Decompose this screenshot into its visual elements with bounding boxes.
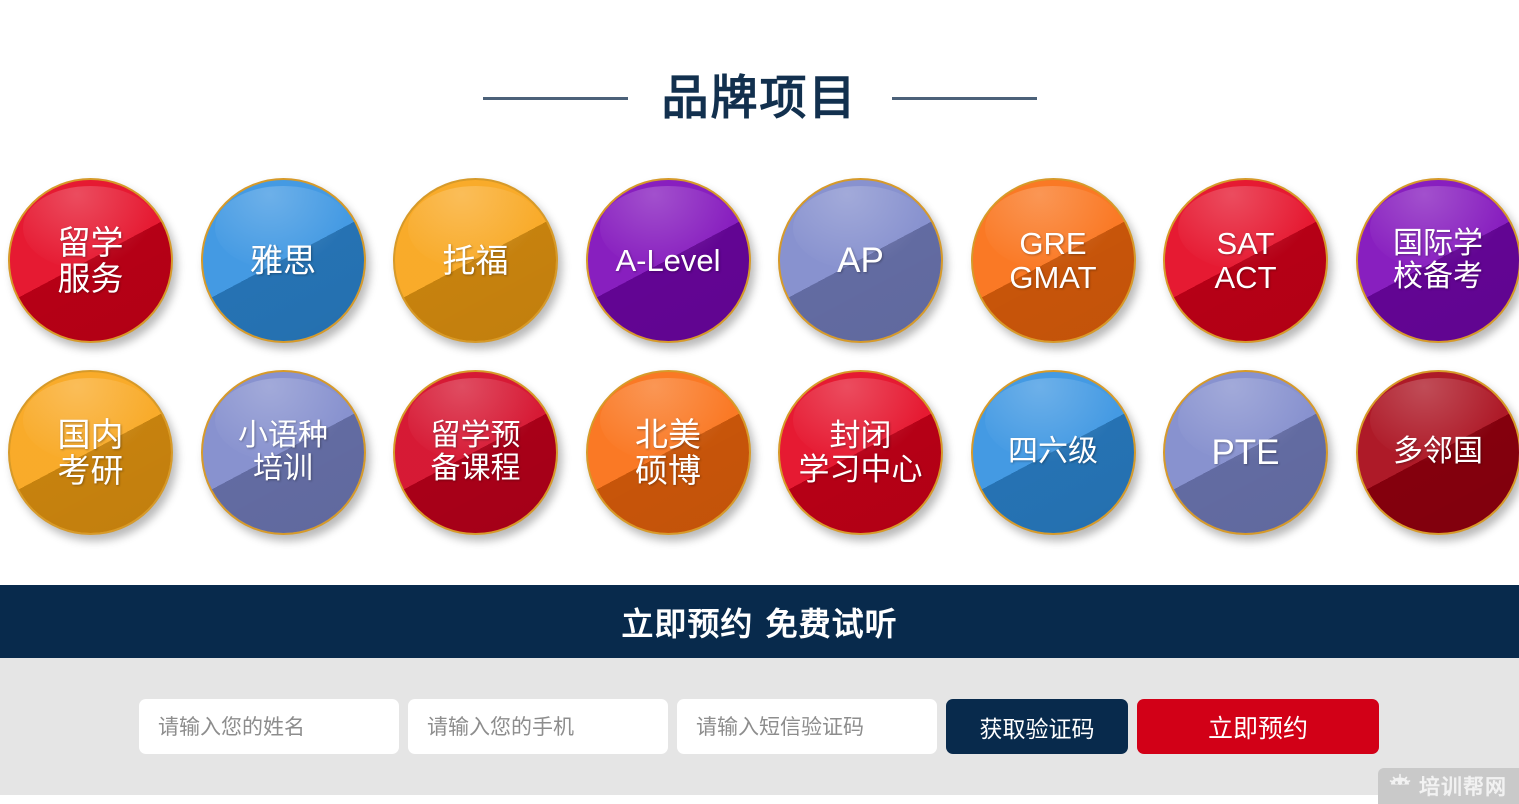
heading-rule-left xyxy=(483,97,628,100)
name-input[interactable] xyxy=(139,699,399,754)
section-heading: 品牌项目 xyxy=(0,58,1519,138)
program-bubble-duolingo[interactable]: 多邻国 xyxy=(1356,370,1519,535)
cta-banner: 立即预约 免费试听 xyxy=(0,585,1519,658)
cta-banner-text: 立即预约 免费试听 xyxy=(621,599,897,645)
program-bubble-label: 封闭 学习中心 xyxy=(780,419,941,486)
program-bubble-study-abroad-prep-course[interactable]: 留学预 备课程 xyxy=(393,370,558,535)
program-bubble-label: 雅思 xyxy=(248,243,318,279)
site-watermark: 培训帮网 xyxy=(1378,768,1519,804)
program-row-2: 国内 考研小语种 培训留学预 备课程北美 硕博封闭 学习中心四六级PTE多邻国 xyxy=(8,370,1516,535)
booking-form-fields: 获取验证码 立即预约 xyxy=(139,699,1379,754)
program-bubble-label: 托福 xyxy=(441,243,511,279)
sms-code-input[interactable] xyxy=(677,699,937,754)
program-bubble-gre-gmat[interactable]: GRE GMAT xyxy=(971,178,1136,343)
program-bubble-label: 国内 考研 xyxy=(56,417,126,488)
program-bubble-label: SAT ACT xyxy=(1213,227,1279,294)
program-bubble-cet-4-6[interactable]: 四六级 xyxy=(971,370,1136,535)
booking-form: 获取验证码 立即预约 xyxy=(0,658,1519,795)
program-bubble-label: A-Level xyxy=(613,244,722,277)
program-bubble-label: PTE xyxy=(1209,434,1281,472)
program-bubble-label: 北美 硕博 xyxy=(633,417,703,488)
program-bubble-toefl[interactable]: 托福 xyxy=(393,178,558,343)
program-bubble-ielts[interactable]: 雅思 xyxy=(201,178,366,343)
program-bubble-pte[interactable]: PTE xyxy=(1163,370,1328,535)
book-now-button[interactable]: 立即预约 xyxy=(1137,699,1379,754)
program-bubble-label: 留学预 备课程 xyxy=(429,420,523,485)
program-bubble-sat-act[interactable]: SAT ACT xyxy=(1163,178,1328,343)
program-bubble-domestic-postgrad-exam[interactable]: 国内 考研 xyxy=(8,370,173,535)
program-row-1: 留学 服务雅思托福A-LevelAPGRE GMATSAT ACT国际学 校备考 xyxy=(8,178,1516,343)
program-bubble-label: 国际学 校备考 xyxy=(1391,228,1485,293)
program-bubble-label: 四六级 xyxy=(1006,436,1100,468)
phone-input[interactable] xyxy=(408,699,668,754)
program-bubble-closed-study-center[interactable]: 封闭 学习中心 xyxy=(778,370,943,535)
program-bubble-minor-language-training[interactable]: 小语种 培训 xyxy=(201,370,366,535)
program-bubble-label: 小语种 培训 xyxy=(236,420,330,485)
program-bubble-ap[interactable]: AP xyxy=(778,178,943,343)
page-title: 品牌项目 xyxy=(662,75,858,122)
program-bubble-overseas-study-service[interactable]: 留学 服务 xyxy=(8,178,173,343)
program-bubble-label: AP xyxy=(835,242,886,280)
program-bubble-label: GRE GMAT xyxy=(1007,227,1098,294)
program-bubble-a-level[interactable]: A-Level xyxy=(586,178,751,343)
program-bubble-label: 留学 服务 xyxy=(56,225,126,296)
watermark-label: 培训帮网 xyxy=(1419,771,1507,801)
sun-face-icon xyxy=(1388,772,1412,801)
program-bubble-north-america-master-phd[interactable]: 北美 硕博 xyxy=(586,370,751,535)
program-bubble-international-school-prep[interactable]: 国际学 校备考 xyxy=(1356,178,1519,343)
program-bubble-label: 多邻国 xyxy=(1391,436,1485,468)
get-verification-code-button[interactable]: 获取验证码 xyxy=(946,699,1128,754)
heading-rule-right xyxy=(892,97,1037,100)
program-grid: 留学 服务雅思托福A-LevelAPGRE GMATSAT ACT国际学 校备考… xyxy=(8,178,1516,562)
